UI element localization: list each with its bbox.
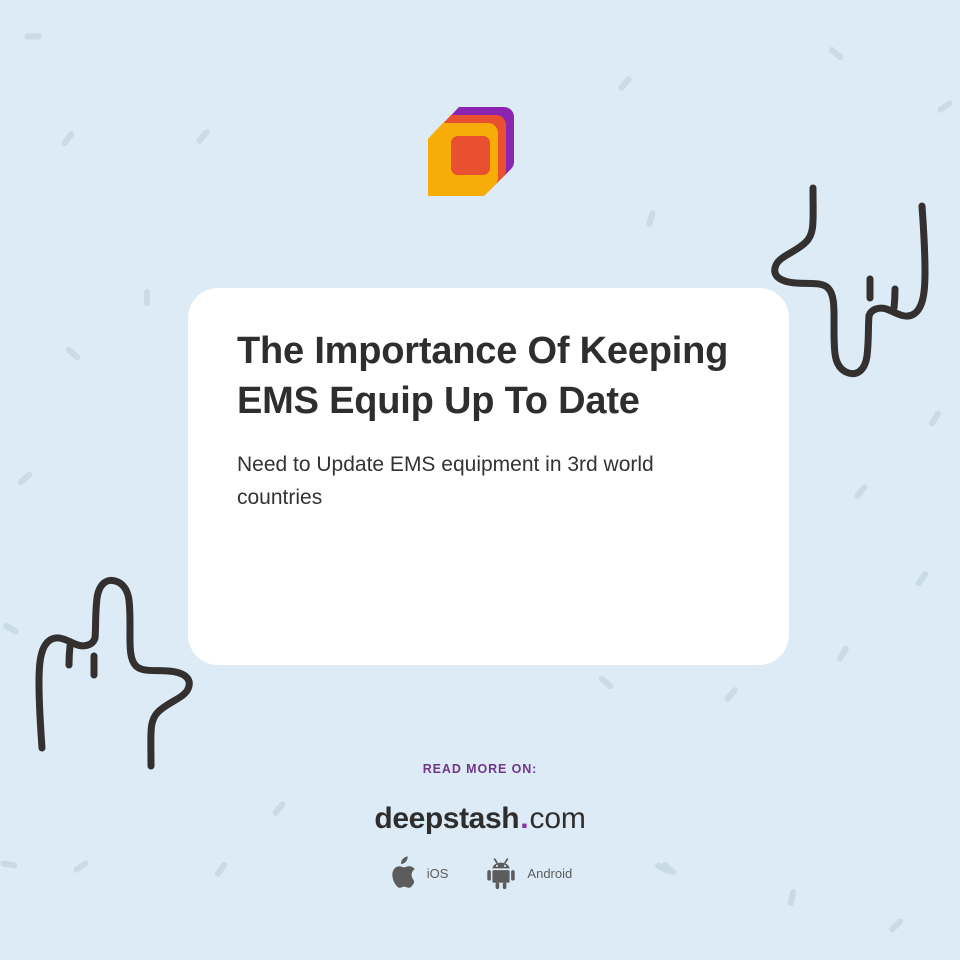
android-icon [484, 856, 518, 890]
confetti-speck [888, 917, 904, 933]
confetti-speck [853, 483, 869, 500]
read-more-label: READ MORE ON: [0, 762, 960, 776]
brand-name: deepstash [374, 802, 519, 835]
app-store-badges: iOS [0, 856, 960, 890]
confetti-speck [598, 675, 615, 691]
android-label: Android [527, 866, 572, 881]
card-subtitle: Need to Update EMS equipment in 3rd worl… [237, 448, 737, 514]
hand-pointing-up-illustration [26, 562, 206, 778]
share-card-canvas: The Importance Of Keeping EMS Equip Up T… [0, 0, 960, 960]
confetti-speck [788, 889, 797, 907]
brand-wordmark[interactable]: deepstash.com [0, 802, 960, 836]
card-title: The Importance Of Keeping EMS Equip Up T… [237, 326, 739, 426]
ios-label: iOS [427, 866, 449, 881]
confetti-speck [828, 46, 845, 62]
confetti-speck [144, 289, 150, 306]
confetti-speck [195, 128, 211, 145]
confetti-speck [928, 410, 942, 428]
confetti-speck [2, 622, 20, 636]
confetti-speck [65, 346, 82, 362]
ios-store-badge[interactable]: iOS [388, 856, 449, 890]
confetti-speck [61, 130, 76, 147]
deepstash-logo [428, 104, 520, 196]
confetti-speck [723, 686, 739, 703]
confetti-speck [646, 210, 656, 228]
article-card: The Importance Of Keeping EMS Equip Up T… [188, 288, 789, 665]
brand-tld: com [530, 802, 586, 835]
confetti-speck [17, 471, 34, 487]
brand-dot: . [519, 802, 529, 835]
apple-icon [388, 856, 418, 890]
footer: READ MORE ON: deepstash.com iOS [0, 762, 960, 890]
confetti-speck [617, 75, 633, 92]
confetti-speck [915, 570, 930, 587]
confetti-speck [25, 34, 42, 40]
confetti-speck [836, 645, 850, 663]
confetti-speck [936, 99, 953, 114]
android-store-badge[interactable]: Android [484, 856, 572, 890]
